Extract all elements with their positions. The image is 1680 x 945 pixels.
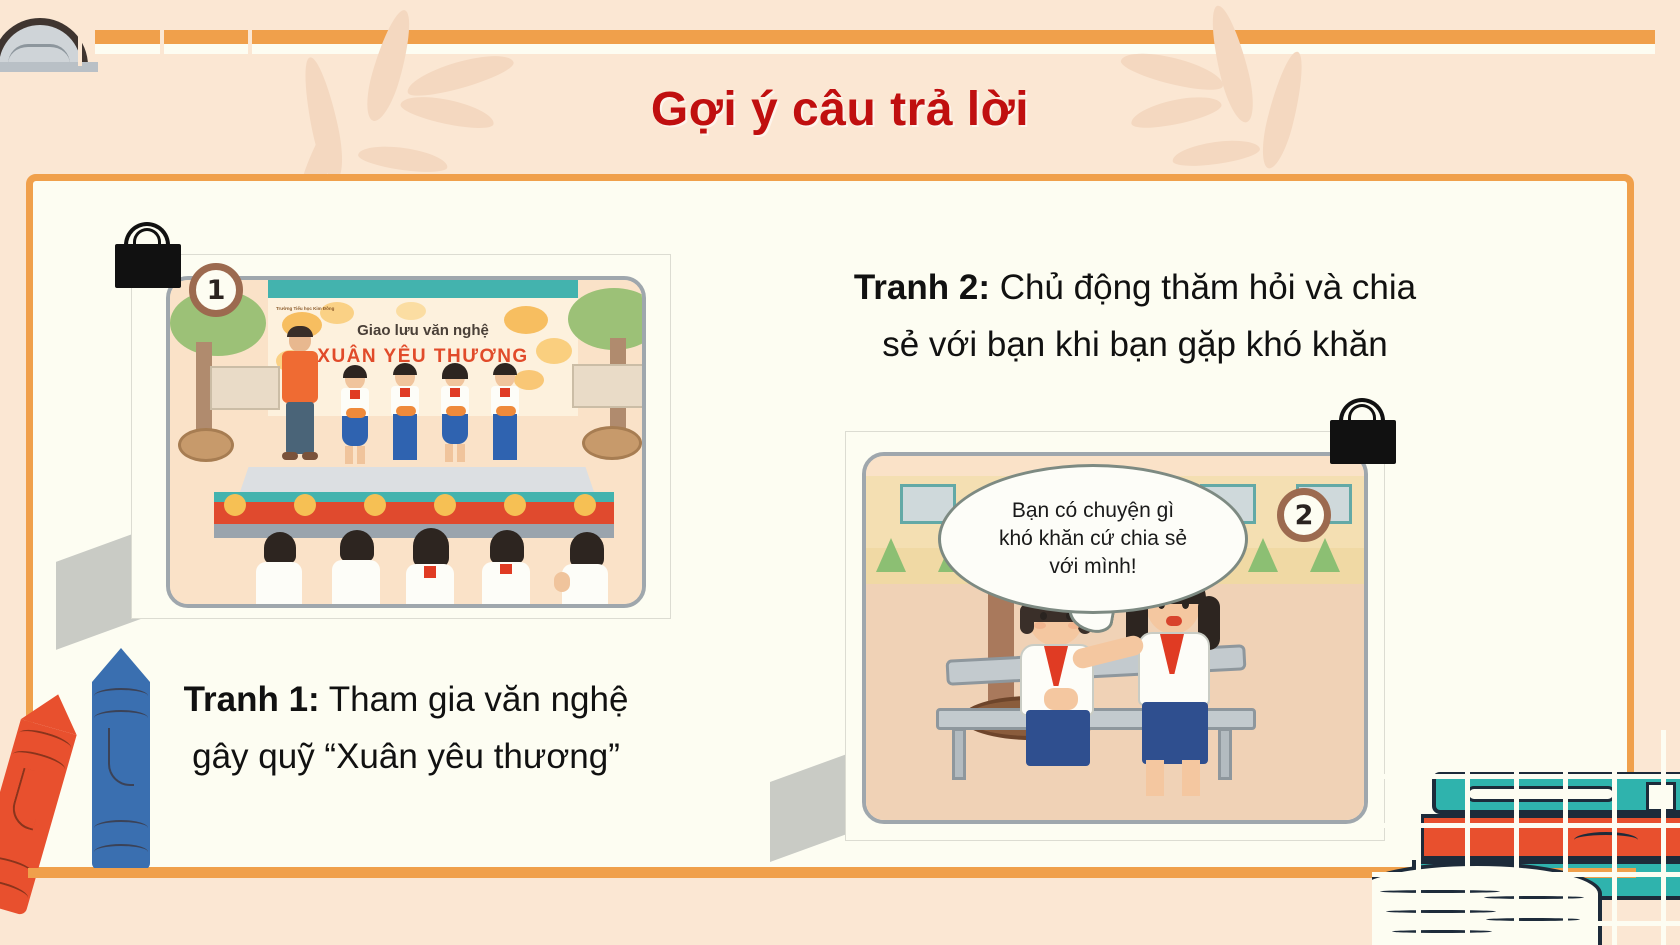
picture-2-badge: 2 bbox=[1277, 488, 1331, 542]
dome-base bbox=[0, 62, 98, 72]
audience-child bbox=[404, 528, 456, 608]
stage-flower bbox=[224, 494, 246, 516]
picture-2-caption: Tranh 2: Chủ động thăm hỏi và chia sẻ vớ… bbox=[740, 260, 1530, 373]
caption-2-line-1: Tranh 2: Chủ động thăm hỏi và chia bbox=[740, 260, 1530, 317]
dome-inner-arc bbox=[8, 44, 70, 64]
crayon-ring bbox=[94, 688, 148, 704]
stage-flower bbox=[434, 494, 456, 516]
student-on-stage bbox=[488, 366, 522, 474]
grid-line bbox=[248, 0, 252, 80]
page-line bbox=[1486, 918, 1580, 921]
stage-flower bbox=[364, 494, 386, 516]
small-tree bbox=[1310, 538, 1340, 572]
book-teal-top bbox=[1432, 772, 1680, 814]
banner-school-text: Trường Tiểu học Kim Đồng bbox=[276, 306, 334, 311]
ground bbox=[866, 584, 1368, 824]
teacher-hair bbox=[287, 326, 313, 337]
picture-1-badge: 1 bbox=[189, 263, 243, 317]
crayon-ring bbox=[94, 820, 148, 836]
banner-top-strip bbox=[268, 280, 578, 300]
caption-2-line-2: sẻ với bạn khi bạn gặp khó khăn bbox=[740, 317, 1530, 374]
student-on-stage bbox=[388, 366, 422, 474]
building-left bbox=[210, 366, 280, 410]
student-on-stage bbox=[338, 368, 372, 474]
teacher-trousers bbox=[286, 402, 314, 454]
speech-line-2: khó khăn cứ chia sẻ bbox=[999, 525, 1187, 553]
book-squiggle bbox=[1574, 832, 1638, 848]
crayon-swirl bbox=[108, 728, 134, 786]
teacher-figure bbox=[278, 328, 322, 468]
page-line bbox=[1386, 910, 1496, 913]
caption-1-text-1: Tham gia văn nghệ bbox=[329, 680, 629, 719]
page-title: Gợi ý câu trả lời bbox=[0, 82, 1680, 137]
slide-root: ✳ ✳ Gợi ý câu trả lời bbox=[0, 0, 1680, 945]
blossom-blob bbox=[396, 302, 426, 320]
teacher-shoe bbox=[282, 452, 298, 460]
binder-clip-1 bbox=[115, 222, 185, 292]
picture-1-illustration: Trường Tiểu học Kim Đồng Giao lưu văn ng… bbox=[166, 276, 646, 608]
top-left-dome-decoration bbox=[0, 0, 300, 80]
book-tab bbox=[1646, 782, 1676, 812]
grid-line bbox=[78, 0, 82, 66]
small-tree bbox=[1248, 538, 1278, 572]
page-line bbox=[1484, 896, 1584, 899]
stage-flower bbox=[294, 494, 316, 516]
book-orange bbox=[1420, 814, 1680, 860]
page-line bbox=[1392, 930, 1492, 933]
grid-line bbox=[160, 0, 164, 80]
tree-pot-left bbox=[178, 428, 234, 462]
clip-body bbox=[1330, 420, 1396, 464]
tree-pot-right bbox=[582, 426, 642, 460]
book-label-strip bbox=[1466, 786, 1616, 802]
crayon-blue bbox=[92, 648, 150, 874]
picture-1-caption: Tranh 1: Tham gia văn nghệ gây quỹ “Xuân… bbox=[96, 672, 716, 785]
teacher-shoe bbox=[302, 452, 318, 460]
leaf-shape bbox=[1171, 136, 1261, 170]
speech-bubble: Bạn có chuyện gì khó khăn cứ chia sẻ với… bbox=[938, 464, 1248, 614]
caption-2-text-1: Chủ động thăm hỏi và chia bbox=[1000, 268, 1416, 307]
stage-trim bbox=[214, 492, 614, 502]
student-on-stage bbox=[438, 366, 472, 474]
caption-1-line-2: gây quỹ “Xuân yêu thương” bbox=[96, 729, 716, 786]
bench-leg bbox=[952, 728, 966, 780]
speech-line-1: Bạn có chuyện gì bbox=[1012, 497, 1174, 525]
speech-line-3: với mình! bbox=[1049, 553, 1136, 581]
audience-child bbox=[330, 530, 382, 608]
caption-1-line-1: Tranh 1: Tham gia văn nghệ bbox=[96, 672, 716, 729]
building-right bbox=[572, 364, 646, 408]
crayon-tip bbox=[92, 648, 150, 682]
stage-flower bbox=[504, 494, 526, 516]
audience-child bbox=[254, 532, 304, 608]
teacher-shirt bbox=[282, 351, 318, 403]
books-decoration bbox=[1372, 730, 1680, 945]
binder-clip-2 bbox=[1330, 398, 1400, 468]
caption-2-label: Tranh 2: bbox=[854, 268, 990, 307]
audience-child bbox=[558, 532, 610, 608]
audience-child bbox=[480, 530, 532, 608]
leaf-shape bbox=[357, 142, 449, 176]
crayon-ring bbox=[94, 844, 148, 860]
stage-flower bbox=[574, 494, 596, 516]
clip-body bbox=[115, 244, 181, 288]
crayon-ring bbox=[94, 710, 148, 726]
page-line bbox=[1380, 890, 1500, 893]
open-book bbox=[1372, 862, 1602, 945]
small-tree bbox=[876, 538, 906, 572]
caption-1-label: Tranh 1: bbox=[184, 680, 320, 719]
